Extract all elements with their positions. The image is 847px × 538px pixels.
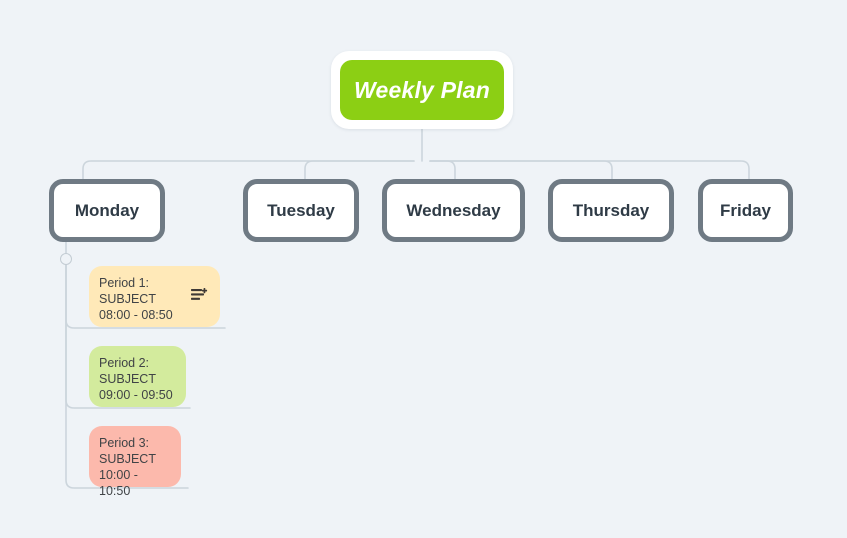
period-card-text: Period 3: SUBJECT 10:00 - 10:50 <box>99 435 169 499</box>
root-node-body[interactable]: Weekly Plan <box>340 60 504 120</box>
mindmap-canvas[interactable]: Weekly Plan Monday Tuesday Wednesday Thu… <box>0 0 847 538</box>
edge-root-to-friday <box>430 161 749 179</box>
note-add-icon[interactable] <box>191 288 208 303</box>
edge-root-to-monday <box>83 161 414 179</box>
day-node-label: Wednesday <box>406 201 500 221</box>
day-node-friday[interactable]: Friday <box>698 179 793 242</box>
day-node-label: Monday <box>75 201 139 221</box>
day-node-label: Tuesday <box>267 201 335 221</box>
day-node-label: Thursday <box>573 201 650 221</box>
collapse-toggle-icon[interactable] <box>60 253 72 265</box>
period-card-1[interactable]: Period 1: SUBJECT 08:00 - 08:50 <box>89 266 220 327</box>
edge-root-to-wednesday <box>430 161 455 179</box>
day-node-monday[interactable]: Monday <box>49 179 165 242</box>
edge-root-to-tuesday <box>305 161 414 179</box>
day-node-wednesday[interactable]: Wednesday <box>382 179 525 242</box>
edge-root-to-thursday <box>430 161 612 179</box>
day-node-label: Friday <box>720 201 771 221</box>
period-card-text: Period 1: SUBJECT 08:00 - 08:50 <box>99 275 173 323</box>
period-card-2[interactable]: Period 2: SUBJECT 09:00 - 09:50 <box>89 346 186 407</box>
root-node[interactable]: Weekly Plan <box>331 51 513 129</box>
note-add-icon-glyph <box>191 288 208 303</box>
period-card-3[interactable]: Period 3: SUBJECT 10:00 - 10:50 <box>89 426 181 487</box>
root-node-label: Weekly Plan <box>354 77 490 104</box>
day-node-tuesday[interactable]: Tuesday <box>243 179 359 242</box>
day-node-thursday[interactable]: Thursday <box>548 179 674 242</box>
period-card-text: Period 2: SUBJECT 09:00 - 09:50 <box>99 355 173 403</box>
